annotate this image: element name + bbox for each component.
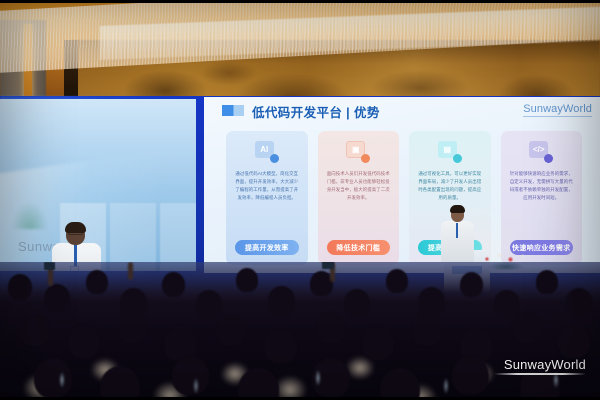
audience-phone <box>44 262 55 270</box>
raised-arm <box>128 262 133 280</box>
audience-phone <box>322 262 334 269</box>
card-button[interactable]: 降低技术门槛 <box>327 240 391 255</box>
screenshot-root: Sunway Sunway 低代码开发平台 | 优势 SunwayWorld A… <box>0 0 600 400</box>
watermark-logo: SunwayWorld <box>504 357 586 372</box>
ai-icon-dot <box>270 154 279 163</box>
title-accent-square <box>222 105 244 116</box>
card-body-text: 针对能够快速响应业务的需求，自定义开发，无需拼写大量的代码或者不依赖单独的开发配… <box>508 170 576 203</box>
card-button[interactable]: 提高开发效率 <box>235 240 299 255</box>
watermark-underline <box>494 373 586 375</box>
slide-brand-logo: SunwayWorld <box>523 103 592 117</box>
left-projection-screen: Sunway Sunway <box>0 99 196 271</box>
audience-area: SunwayWorld <box>0 262 600 400</box>
card-body-text: 面向技术人员们开发低代码技术门槛，非专业人员也能够轻松投身开发当中，极大的提高了… <box>325 170 393 203</box>
ai-icon: AI <box>254 140 280 164</box>
card-body-text: 通过低代码AI大模型，简化交互界面，提升开发效率，大大减少了编程的工作量，从而提… <box>233 170 301 203</box>
speaker-lanyard <box>456 223 458 238</box>
projection-foliage <box>10 199 50 229</box>
monitor-icon-dot <box>453 154 462 163</box>
venue-mural-backdrop <box>0 0 600 100</box>
speaker-hair <box>450 205 465 213</box>
slide-title: 低代码开发平台 | 优势 <box>252 102 380 121</box>
advantage-card: AI 通过低代码AI大模型，简化交互界面，提升开发效率，大大减少了编程的工作量，… <box>226 131 308 265</box>
code-icon-dot <box>544 154 553 163</box>
monitor-icon: ▤ <box>437 140 463 164</box>
slide-header: 低代码开发平台 | 优势 SunwayWorld <box>204 97 600 123</box>
card-body-text: 通过可视化工具，可以更好实现界面布局，减少了开发人员出错时各类配置出现的问题，提… <box>416 170 484 203</box>
code-icon: </> <box>528 140 554 164</box>
advantage-card: ▣ 面向技术人员们开发低代码技术门槛，非专业人员也能够轻松投身开发当中，极大的提… <box>318 131 400 265</box>
letterbox-top <box>0 0 600 3</box>
feed-speaker-glasses <box>68 231 83 235</box>
window-layers-icon-dot <box>361 154 370 163</box>
window-layers-icon: ▣ <box>345 140 371 164</box>
